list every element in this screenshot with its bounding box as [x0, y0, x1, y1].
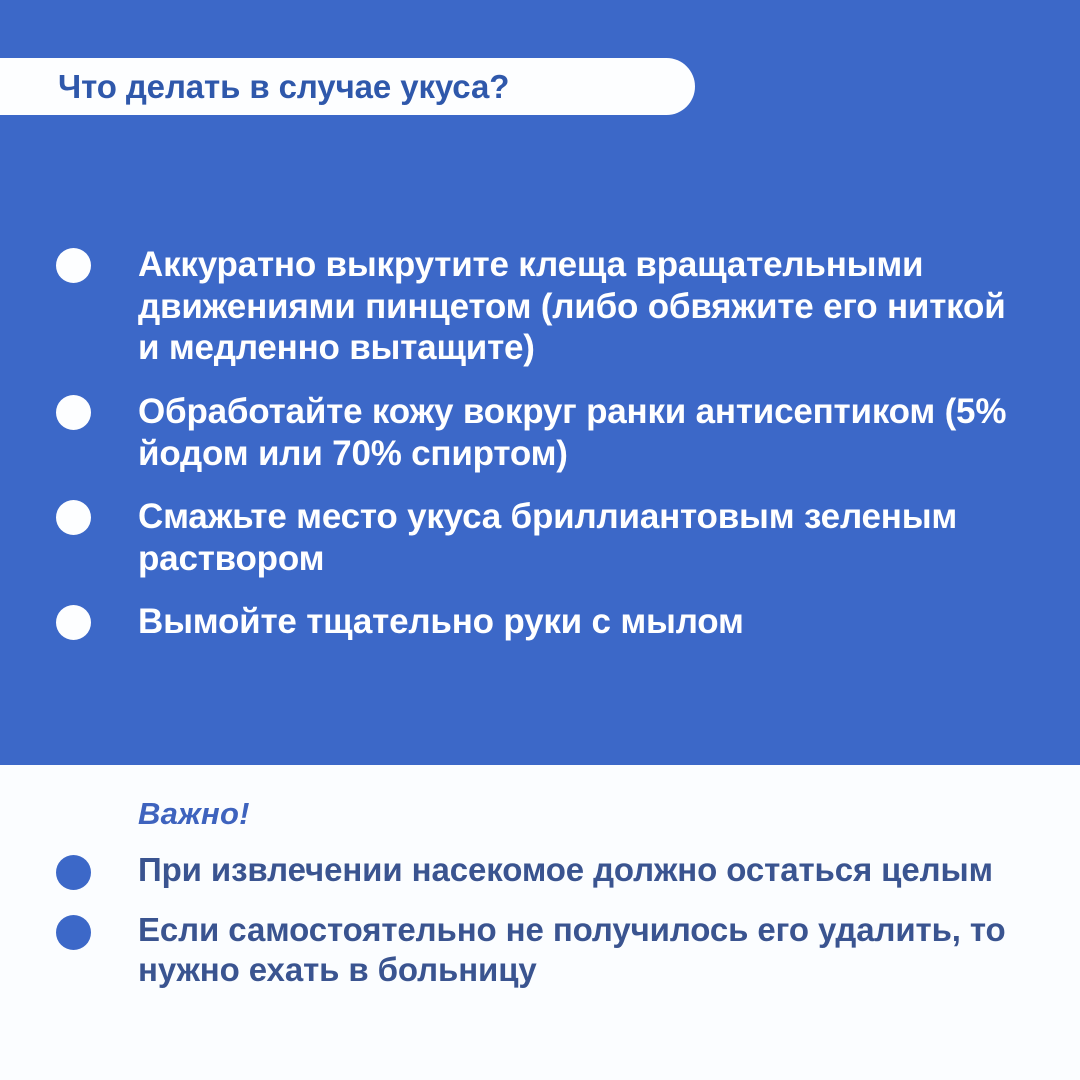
bullet-dot-icon	[56, 605, 91, 640]
list-item-label: Вымойте тщательно руки с мылом	[138, 601, 744, 643]
list-item-label: Смажьте место укуса бриллиантовым зелены…	[138, 496, 1028, 579]
important-list: При извлечении насекомое должно остаться…	[0, 850, 1080, 989]
infographic-poster: Что делать в случае укуса? Аккуратно вык…	[0, 0, 1080, 1080]
important-section: Важно! При извлечении насекомое должно о…	[0, 765, 1080, 1080]
list-item-label: Аккуратно выкрутите клеща вращательными …	[138, 244, 1028, 369]
list-item: Обработайте кожу вокруг ранки антисептик…	[56, 391, 1042, 474]
list-item-label: Если самостоятельно не получилось его уд…	[138, 910, 1018, 989]
list-item-label: Обработайте кожу вокруг ранки антисептик…	[138, 391, 1028, 474]
list-item: При извлечении насекомое должно остаться…	[56, 850, 1042, 890]
bullet-dot-icon	[56, 248, 91, 283]
title-pill: Что делать в случае укуса?	[0, 58, 695, 115]
list-item: Аккуратно выкрутите клеща вращательными …	[56, 244, 1042, 369]
important-heading: Важно!	[138, 798, 250, 829]
bullet-dot-icon	[56, 915, 91, 950]
page-title: Что делать в случае укуса?	[58, 70, 509, 103]
list-item: Если самостоятельно не получилось его уд…	[56, 910, 1042, 989]
bullet-dot-icon	[56, 500, 91, 535]
list-item-label: При извлечении насекомое должно остаться…	[138, 850, 993, 890]
bullet-dot-icon	[56, 395, 91, 430]
list-item: Смажьте место укуса бриллиантовым зелены…	[56, 496, 1042, 579]
steps-list: Аккуратно выкрутите клеща вращательными …	[0, 244, 1080, 643]
steps-section: Что делать в случае укуса? Аккуратно вык…	[0, 0, 1080, 765]
bullet-dot-icon	[56, 855, 91, 890]
list-item: Вымойте тщательно руки с мылом	[56, 601, 1042, 643]
